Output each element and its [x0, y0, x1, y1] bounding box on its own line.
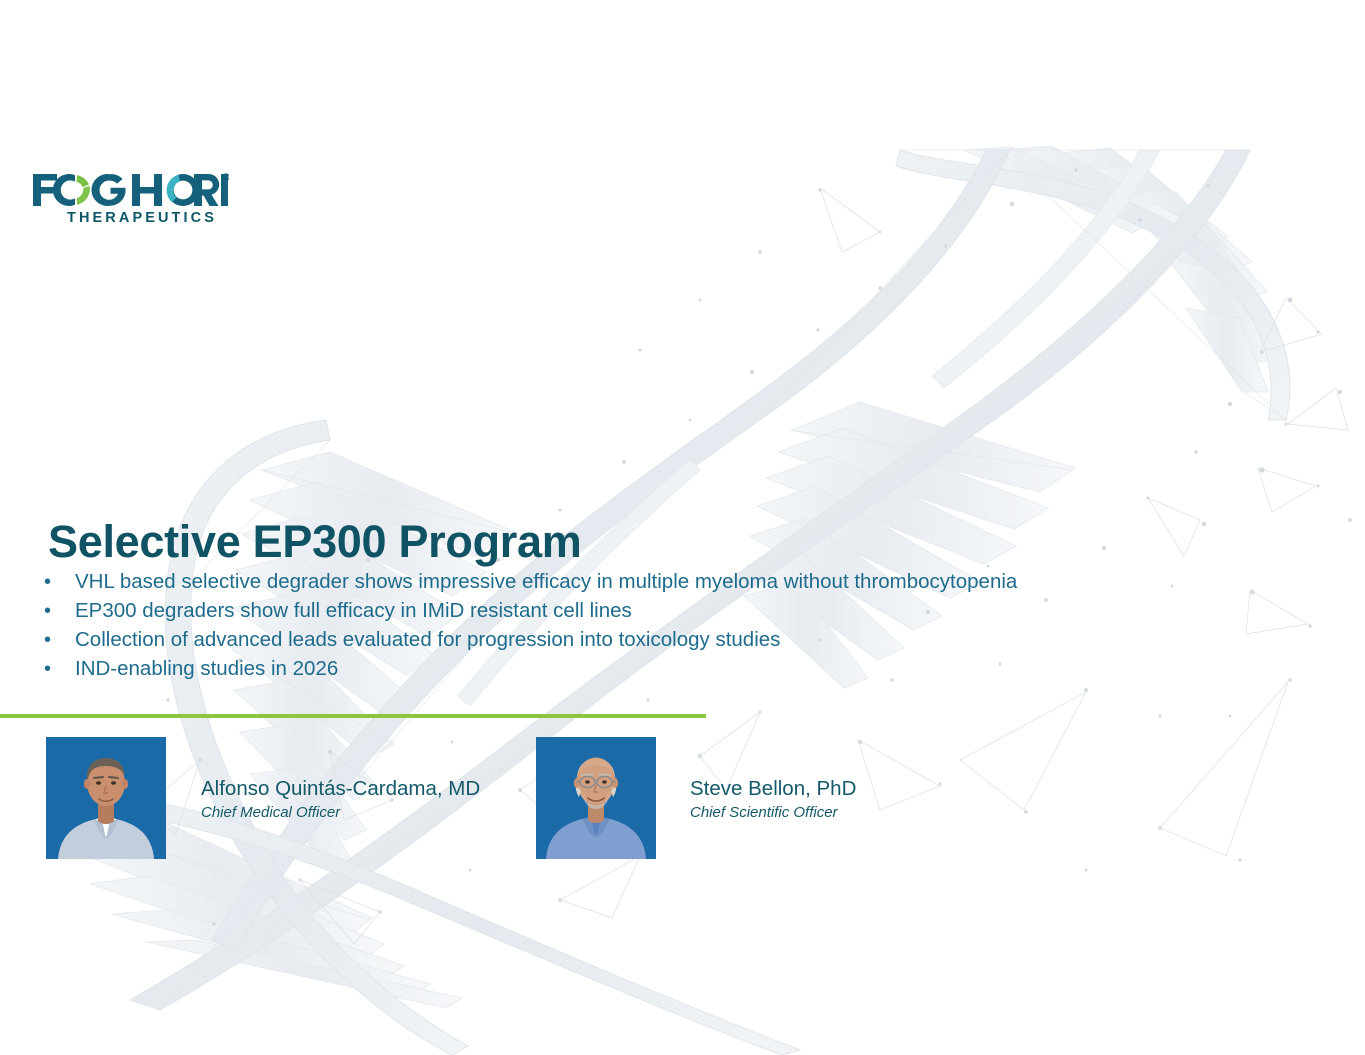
speaker-block-0: Alfonso Quintás-Cardama, MD Chief Medica… [46, 737, 480, 859]
speaker-headshot-0 [46, 737, 166, 859]
green-divider-rule [0, 714, 706, 718]
slide-title: Selective EP300 Program [48, 518, 581, 565]
bullet-item-3: • IND-enabling studies in 2026 [40, 654, 1340, 683]
bullet-item-0: • VHL based selective degrader shows imp… [40, 567, 1340, 596]
svg-text:R: R [224, 175, 227, 180]
speaker-headshot-1 [536, 737, 656, 859]
bullet-text-2: Collection of advanced leads evaluated f… [75, 625, 780, 654]
bullet-text-3: IND-enabling studies in 2026 [75, 654, 338, 683]
speaker-name-0: Alfonso Quintás-Cardama, MD [201, 777, 480, 802]
foghorn-wordmark: R [31, 172, 229, 208]
presentation-slide: R THERAPEUTICS Selective EP300 Program •… [0, 0, 1365, 1055]
speaker-name-1: Steve Bellon, PhD [690, 777, 856, 802]
speaker-block-1: Steve Bellon, PhD Chief Scientific Offic… [536, 737, 856, 859]
speaker-meta-0: Alfonso Quintás-Cardama, MD Chief Medica… [201, 737, 480, 822]
bullet-text-0: VHL based selective degrader shows impre… [75, 567, 1017, 596]
bullet-marker-icon: • [40, 597, 75, 626]
bullet-marker-icon: • [40, 626, 75, 655]
bullet-marker-icon: • [40, 568, 75, 597]
foghorn-logo: R THERAPEUTICS [31, 172, 229, 226]
logo-tagline: THERAPEUTICS [67, 211, 229, 226]
bullet-list: • VHL based selective degrader shows imp… [40, 567, 1340, 683]
bullet-text-1: EP300 degraders show full efficacy in IM… [75, 596, 632, 625]
bullet-item-1: • EP300 degraders show full efficacy in … [40, 596, 1340, 625]
bullet-item-2: • Collection of advanced leads evaluated… [40, 625, 1340, 654]
speaker-meta-1: Steve Bellon, PhD Chief Scientific Offic… [690, 737, 856, 822]
speaker-role-0: Chief Medical Officer [201, 804, 480, 823]
bullet-marker-icon: • [40, 655, 75, 684]
speaker-role-1: Chief Scientific Officer [690, 804, 856, 823]
